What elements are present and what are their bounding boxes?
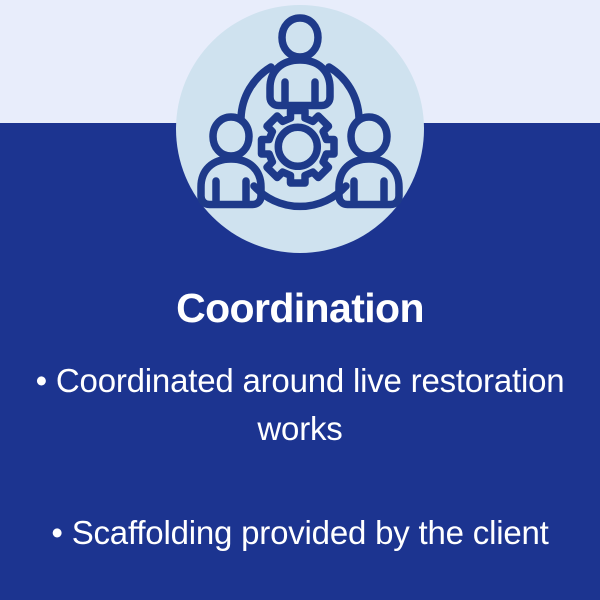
person-top-icon xyxy=(270,18,330,106)
page-title: Coordination xyxy=(0,270,600,329)
text-content-block: Coordination • Coordinated around live r… xyxy=(0,270,600,557)
bullet-item-2: • Scaffolding provided by the client xyxy=(0,509,600,557)
person-bottom-left-icon xyxy=(201,117,261,205)
gear-icon xyxy=(262,111,335,184)
person-bottom-right-icon xyxy=(339,117,399,205)
arc-bottom-icon xyxy=(254,186,346,206)
icon-badge-circle xyxy=(176,5,424,253)
coordination-info-card: Coordination • Coordinated around live r… xyxy=(0,0,600,600)
bullet-item-1: • Coordinated around live restoration wo… xyxy=(0,357,600,453)
bullet-list: • Coordinated around live restoration wo… xyxy=(0,357,600,557)
team-coordination-icon xyxy=(176,5,424,253)
